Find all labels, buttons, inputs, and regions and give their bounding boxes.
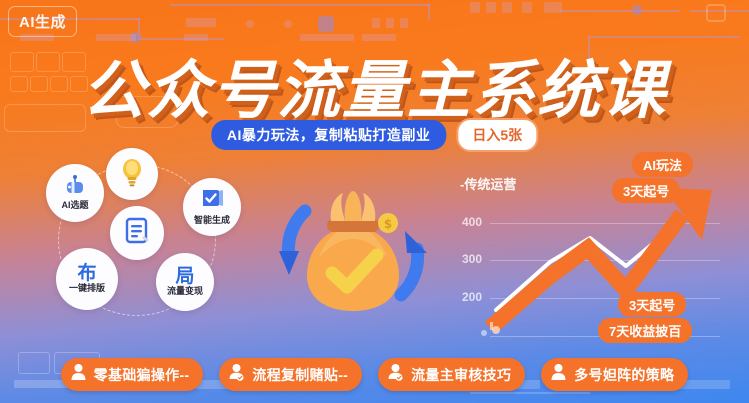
svg-text:$: $ — [384, 217, 392, 231]
diagram-node-label: AI选题 — [61, 201, 88, 211]
check-note-icon — [200, 188, 224, 215]
person-check-icon — [387, 363, 404, 386]
chart-series-plot — [440, 150, 740, 340]
workflow-diagram: AI选题 智能生成 — [28, 148, 268, 338]
diagram-node-monetization[interactable]: 局 流量变现 — [156, 253, 214, 311]
ai-generated-badge-label: AI生成 — [19, 14, 66, 31]
person-icon — [70, 363, 87, 386]
feature-pill-label: 流程复制赌贴-- — [252, 365, 348, 385]
chart-badge-ai-method: AI玩法 — [632, 152, 693, 177]
diagram-node-smart-generate[interactable]: 智能生成 — [183, 178, 241, 236]
diagram-node-document[interactable] — [110, 206, 164, 260]
document-icon — [122, 216, 152, 251]
person-icon — [550, 363, 567, 386]
money-bag-check-icon: $ — [277, 183, 429, 323]
growth-chart: -传统运营 400 300 200 AI玩法 3天起号 3天起号 7天收益披百 — [440, 150, 740, 340]
feature-pill-copy-process[interactable]: 流程复制赌贴-- — [219, 358, 362, 391]
diagram-node-label: 一键排版 — [69, 284, 105, 294]
feature-pill-multi-account[interactable]: 多号妲阵的策略 — [541, 358, 688, 391]
feature-pill-bar: 零基础猵操作-- 流程复制赌贴-- — [0, 358, 749, 391]
chart-badge-3day-top: 3天起号 — [612, 178, 680, 203]
ai-generated-badge: AI生成 — [8, 6, 77, 37]
lightbulb-icon — [119, 157, 145, 192]
diagram-node-label: 流量变现 — [167, 287, 203, 297]
feature-pill-label: 零基础猵操作-- — [94, 365, 190, 385]
subtitle-pill: AI暴力玩法，复制粘贴打造副业 — [211, 120, 447, 150]
diagram-node-layout[interactable]: 布 一键排版 — [56, 248, 118, 310]
feature-pill-label: 多号妲阵的策略 — [574, 365, 674, 385]
feature-pill-zero-basics[interactable]: 零基础猵操作-- — [61, 358, 204, 391]
poster-canvas: AI生成 公众号流量主系统课 AI暴力玩法，复制粘贴打造副业 日入5张 AI选题 — [0, 0, 749, 403]
subtitle-row: AI暴力玩法，复制粘贴打造副业 日入5张 — [211, 118, 538, 152]
highlight-pill: 日入5张 — [456, 118, 538, 152]
feature-pill-audit-tips[interactable]: 流量主审核技巧 — [378, 358, 525, 391]
money-bag-illustration: $ — [277, 183, 429, 323]
person-check-icon — [228, 363, 245, 386]
robot-icon — [63, 175, 87, 200]
diagram-node-big-char: 布 — [77, 264, 96, 283]
diagram-node-idea[interactable] — [106, 148, 158, 200]
feature-pill-label: 流量主审核技巧 — [411, 365, 511, 385]
diagram-node-label: 智能生成 — [194, 216, 230, 226]
diagram-node-big-char: 局 — [175, 267, 194, 286]
diagram-node-ai-topic[interactable]: AI选题 — [46, 164, 104, 222]
chart-badge-7day: 7天收益披百 — [598, 318, 692, 343]
chart-badge-3day-bottom: 3天起号 — [618, 292, 686, 317]
